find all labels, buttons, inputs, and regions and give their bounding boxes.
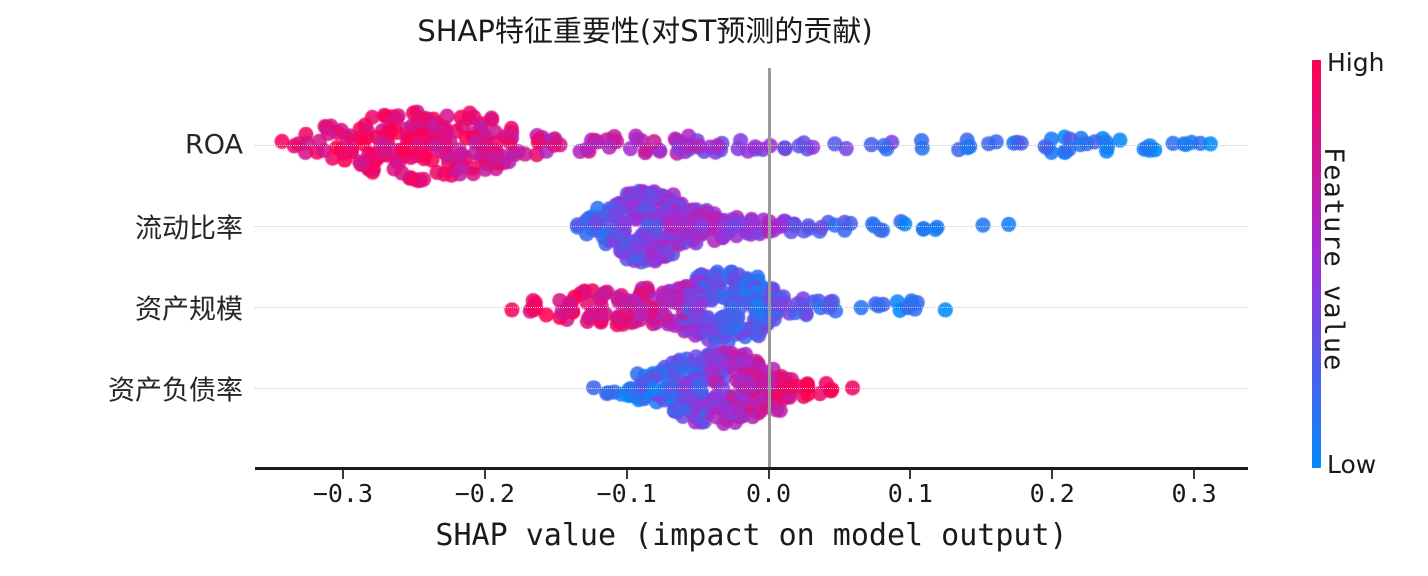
gridline-row-1	[255, 226, 1248, 227]
colorbar-high-label: High	[1327, 48, 1384, 77]
gridline-row-2	[255, 307, 1248, 308]
y-tick-label-1: 流动比率	[0, 207, 243, 246]
shap-summary-figure: SHAP特征重要性(对ST预测的贡献) ROA流动比率资产规模资产负债率 −0.…	[0, 0, 1428, 576]
beeswarm-scatter-canvas	[255, 68, 1248, 468]
page-title: SHAP特征重要性(对ST预测的贡献)	[0, 8, 1290, 50]
x-tick-label-4: 0.1	[865, 479, 955, 508]
colorbar-title: Feature value	[1318, 147, 1349, 387]
x-tick-0	[342, 470, 344, 479]
plot-area	[255, 68, 1248, 468]
x-axis-spine	[255, 467, 1248, 470]
x-tick-label-3: 0.0	[724, 479, 814, 508]
x-tick-6	[1193, 470, 1195, 479]
x-tick-label-2: −0.1	[582, 479, 672, 508]
x-tick-label-6: 0.3	[1149, 479, 1239, 508]
gridline-row-0	[255, 145, 1248, 146]
x-tick-label-1: −0.2	[440, 479, 530, 508]
x-tick-3	[768, 470, 770, 479]
x-tick-1	[484, 470, 486, 479]
x-tick-2	[626, 470, 628, 479]
y-tick-label-0: ROA	[0, 130, 243, 161]
x-tick-label-5: 0.2	[1007, 479, 1097, 508]
x-tick-label-0: −0.3	[298, 479, 388, 508]
x-tick-4	[909, 470, 911, 479]
x-tick-5	[1051, 470, 1053, 479]
x-axis-label: SHAP value (impact on model output)	[255, 518, 1248, 553]
colorbar-low-label: Low	[1327, 450, 1376, 479]
zero-reference-line	[768, 68, 771, 468]
y-tick-label-3: 资产负债率	[0, 369, 243, 408]
y-tick-label-2: 资产规模	[0, 288, 243, 327]
gridline-row-3	[255, 388, 1248, 389]
